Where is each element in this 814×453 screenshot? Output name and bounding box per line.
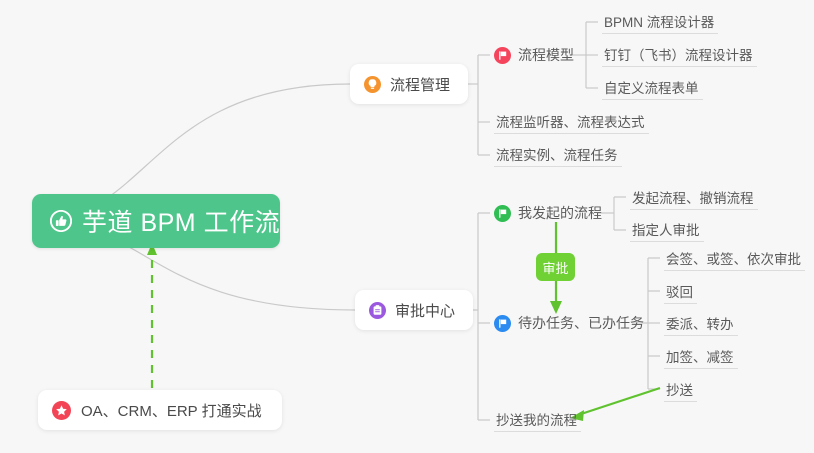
- sub-node-wo-faqi-de-liucheng[interactable]: 我发起的流程: [492, 200, 606, 226]
- leaf-faqi-chexiao[interactable]: 发起流程、撤销流程: [628, 186, 760, 210]
- approval-tag-label: 审批: [542, 258, 568, 277]
- leaf-label: 钉钉（飞书）流程设计器: [604, 44, 753, 64]
- leaf-liucheng-jiantingqi[interactable]: 流程监听器、流程表达式: [492, 110, 651, 134]
- branch-label: 流程管理: [390, 74, 450, 95]
- leaf-huiqian-huoqian[interactable]: 会签、或签、依次审批: [662, 247, 807, 271]
- leaf-label: 流程监听器、流程表达式: [496, 111, 645, 131]
- leaf-label: 委派、转办: [666, 313, 734, 333]
- flag-icon: [494, 205, 511, 222]
- mindmap-canvas: 芋道 BPM 工作流 流程管理 流程模型 BPMN 流程设计器 钉钉（飞书）流程…: [0, 0, 814, 453]
- root-node[interactable]: 芋道 BPM 工作流: [32, 194, 280, 248]
- root-label: 芋道 BPM 工作流: [82, 203, 280, 239]
- leaf-chaosong-wo-de-liucheng[interactable]: 抄送我的流程: [492, 408, 583, 432]
- sub-node-label: 待办任务、已办任务: [518, 313, 644, 333]
- lightbulb-icon: [364, 76, 381, 93]
- branch-label: 审批中心: [395, 300, 455, 321]
- sub-node-liucheng-moxing[interactable]: 流程模型: [492, 42, 578, 68]
- leaf-label: 抄送: [666, 379, 693, 399]
- leaf-label: 发起流程、撤销流程: [632, 187, 754, 207]
- leaf-label: 自定义流程表单: [604, 77, 699, 97]
- leaf-label: 指定人审批: [632, 219, 700, 239]
- flag-icon: [494, 47, 511, 64]
- leaf-custom-form[interactable]: 自定义流程表单: [600, 76, 705, 100]
- leaf-label: 会签、或签、依次审批: [666, 248, 801, 268]
- clipboard-icon: [369, 302, 386, 319]
- leaf-label: 流程实例、流程任务: [496, 144, 618, 164]
- leaf-zhiding-ren-shenpi[interactable]: 指定人审批: [628, 218, 706, 242]
- sub-node-label: 我发起的流程: [518, 203, 602, 223]
- leaf-label: 加签、减签: [666, 346, 734, 366]
- leaf-bpmn-designer[interactable]: BPMN 流程设计器: [600, 10, 720, 34]
- bottom-node-oa-crm-erp[interactable]: OA、CRM、ERP 打通实战: [38, 390, 282, 430]
- leaf-liucheng-shili[interactable]: 流程实例、流程任务: [492, 143, 624, 167]
- leaf-label: BPMN 流程设计器: [604, 11, 714, 31]
- star-icon: [52, 401, 71, 420]
- arrow-chaosong-to-chaosongwo: [578, 388, 660, 415]
- leaf-weipai-zhuanban[interactable]: 委派、转办: [662, 312, 740, 336]
- sub-node-daiban-renwu[interactable]: 待办任务、已办任务: [492, 310, 648, 336]
- leaf-label: 驳回: [666, 281, 693, 301]
- approval-tag: 审批: [536, 253, 575, 281]
- leaf-bohui[interactable]: 驳回: [662, 280, 699, 304]
- thumbs-up-icon: [50, 210, 72, 232]
- leaf-dingding-designer[interactable]: 钉钉（飞书）流程设计器: [600, 43, 759, 67]
- leaf-label: 抄送我的流程: [496, 409, 577, 429]
- flag-icon: [494, 315, 511, 332]
- bottom-node-label: OA、CRM、ERP 打通实战: [81, 400, 262, 421]
- branch-node-shenpi-zhongxin[interactable]: 审批中心: [355, 290, 473, 330]
- branch-node-liucheng-guanli[interactable]: 流程管理: [350, 64, 468, 104]
- leaf-chaosong[interactable]: 抄送: [662, 378, 699, 402]
- sub-node-label: 流程模型: [518, 45, 574, 65]
- leaf-jiaqian-jianqian[interactable]: 加签、减签: [662, 345, 740, 369]
